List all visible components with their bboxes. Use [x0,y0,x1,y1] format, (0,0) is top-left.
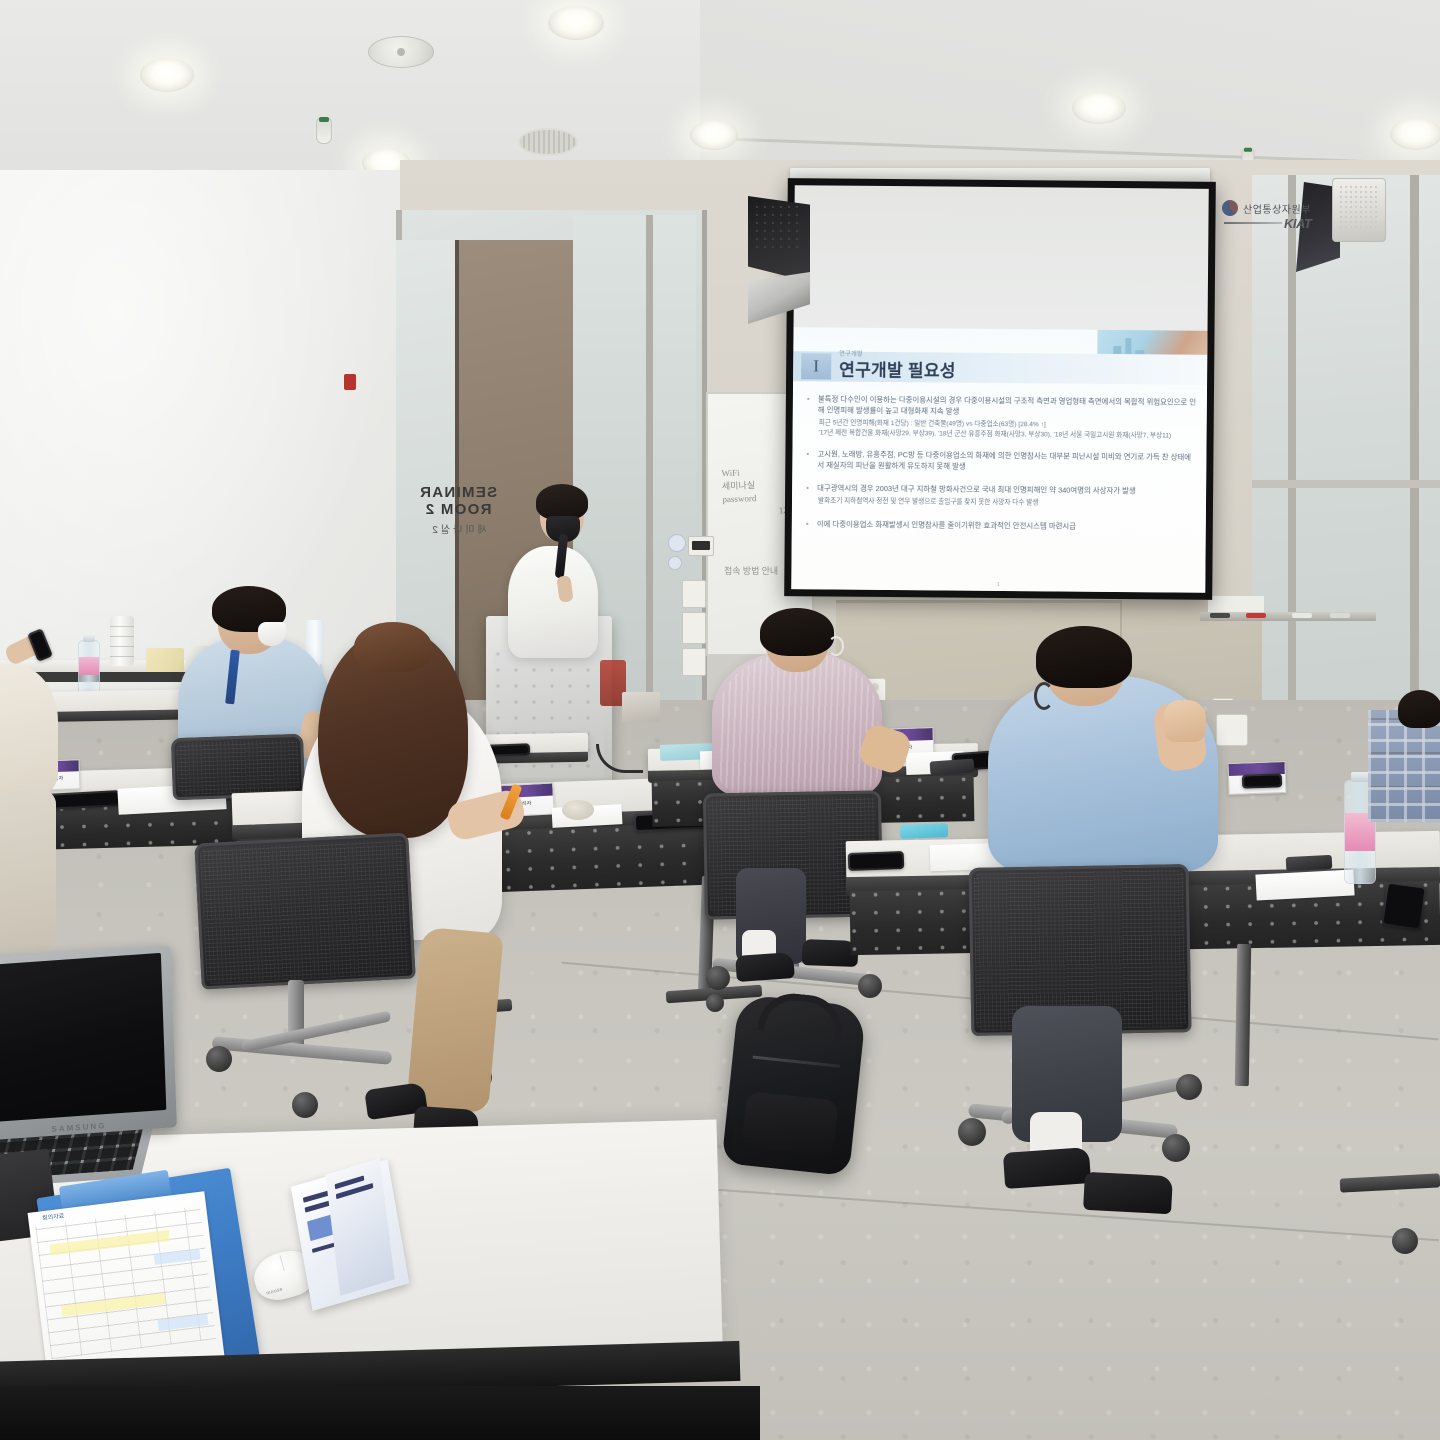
shoe [1083,1172,1173,1215]
whiteboard-handwriting-bottom: 접속 방법 안내 [724,564,778,577]
light-switch-panel[interactable] [682,648,706,676]
smartphone-on-desk[interactable] [1242,773,1282,788]
bullet-icon: ▪ [806,448,812,470]
slide-bullet-text: 이에 다중이용업소 화재발생시 인명참사를 줄이기위한 효과적인 안전시스템 마… [817,518,1076,531]
ceiling-vent [518,128,578,156]
slide-bullet: ▪ 이에 다중이용업소 화재발생시 인명참사를 줄이기위한 효과적인 안전시스템… [806,518,1196,532]
presenter-hair [536,484,588,520]
chair-caster [958,1118,986,1146]
marker-red-icon[interactable] [1246,613,1266,618]
clipboard[interactable]: 회의자료 [36,1168,259,1386]
cardboard-box [622,692,660,722]
smartphone-on-desk[interactable] [1381,881,1427,930]
laptop-brand-label: SAMSUNG [51,1121,106,1134]
ceiling-downlight [140,58,194,92]
backpack-on-floor[interactable] [721,994,866,1176]
clipboard-doc-title: 회의자료 [42,1211,65,1223]
bullet-icon: ▪ [806,518,812,529]
backpack-front-pocket [741,1091,838,1156]
slide-subbullet-text: '17년 제천 복합건물 화재(사망29, 부상39), '18년 군산 유흥주… [819,429,1172,439]
water-bottle[interactable] [78,640,100,698]
slide-page-number: 1 [997,582,1000,588]
sprinkler-head [316,118,332,144]
wall-switch-panel-group[interactable] [682,580,706,680]
snack-package[interactable] [146,648,184,672]
bullet-icon: ▪ [806,482,812,493]
bullet-icon: ▪ [807,393,813,415]
tablet-on-desk[interactable] [1286,855,1333,871]
glass-rail [1252,480,1440,488]
clipboard-document[interactable]: 회의자료 [28,1191,226,1383]
speaker-grille-icon [754,204,800,248]
signage-rule [1224,222,1282,224]
wall-sticker [668,556,682,570]
mouse-brand-label: mouse [266,1286,284,1296]
ceiling-downlight [548,6,604,40]
chair-caster [706,966,730,990]
attendee2-legs [406,927,503,1113]
desk-caster [1392,1228,1418,1254]
chair-caster [292,1092,318,1118]
thermostat[interactable] [688,536,714,556]
slide-bullet: ▪ 대구광역시의 경우 2003년 대구 지하철 방화사건으로 국내 최대 인명… [806,482,1196,496]
chair-back-attendee2 [194,833,415,990]
chair-back-attendee1 [171,734,305,801]
desk-caster [706,994,724,1012]
ceiling-downlight [1390,118,1440,150]
eraser-icon[interactable] [1330,613,1350,618]
shoe [1003,1147,1091,1189]
ceiling-downlight [1072,92,1126,124]
door-sign-ko: 세미나실2 [398,521,518,536]
attendee2-hair-top [354,622,432,672]
smartphone-on-desk[interactable] [848,851,905,871]
attendee4-clasped-hands [1164,700,1206,742]
slide-section-number: I [801,353,831,379]
slide-subbullet-text: 발화초기 지하철역사 정전 및 연무 발생으로 출입구를 찾지 못한 사망자 다… [818,497,1038,506]
glass-mullion [1288,175,1296,735]
document-sheet[interactable] [1255,869,1354,900]
agency-name: KIAT [1284,216,1311,231]
wall-signage: 산업통상자원부 KIAT [1222,196,1330,244]
chair-caster [1162,1134,1190,1162]
marker-black-icon[interactable] [1210,613,1230,618]
presentation-slide: I 연구개발 연구개발 필요성 ▪ 불특정 다수인이 이용하는 다중이용시설의 … [791,327,1207,593]
slide-title: 연구개발 필요성 [839,356,956,382]
speaker-grille-icon [1339,185,1379,229]
screen-surface: I 연구개발 연구개발 필요성 ▪ 불특정 다수인이 이용하는 다중이용시설의 … [791,185,1209,593]
presenter-body [508,546,598,658]
door-sign-en: SEMINAR ROOM 2 [398,484,518,518]
wall-sticker [668,534,686,552]
fire-alarm-pull[interactable] [344,374,356,390]
wall-outlet[interactable] [1216,714,1248,746]
light-switch-panel[interactable] [682,612,706,644]
wall-speaker-right [1332,178,1386,242]
attendee5-hair [1398,690,1440,728]
attendee-left-lap [0,790,56,950]
ceiling-downlight [690,120,738,150]
seminar-room-photo: SEMINAR ROOM 2 세미나실2 WiFi 세미나실 password … [0,0,1440,1440]
slide-bullet-text: 고시원, 노래방, 유흥주점, PC방 등 다중이용업소의 화재에 의한 인명참… [817,448,1196,473]
ministry-logo-icon [1222,200,1238,216]
door-room-sign: SEMINAR ROOM 2 세미나실2 [398,484,518,536]
foreground-table-shadow [0,1386,760,1440]
slide-subbullet: 발화초기 지하철역사 정전 및 연무 발생으로 출입구를 찾지 못한 사망자 다… [806,496,1196,509]
chair-caster [1176,1074,1202,1100]
attendee3-hair [760,608,834,656]
pen-case[interactable] [900,823,948,839]
marker-tray [1200,612,1376,621]
glass-mullion [1410,175,1419,735]
attendee3-mask-earloop [828,636,844,656]
glass-mullion [646,215,653,715]
eyeglasses-case[interactable] [562,800,594,820]
slide-bullet: ▪ 불특정 다수인이 이용하는 다중이용시설의 경우 다중이용시설의 구조적 측… [807,393,1197,418]
chair-caster [858,974,882,998]
shoe [735,952,795,982]
attendee3-shirt-stripes [718,654,878,794]
eraser-icon[interactable] [1292,613,1312,618]
slide-bullet-text: 대구광역시의 경우 2003년 대구 지하철 방화사건으로 국내 최대 인명피해… [817,482,1136,496]
foreground-laptop[interactable]: SAMSUNG [0,945,177,1141]
slide-bullet-text: 불특정 다수인이 이용하는 다중이용시설의 경우 다중이용시설의 구조적 측면과… [818,393,1197,418]
slide-subbullet-text: 최근 5년간 인명피해(화재 1건당) : 일반 건축물(49명) vs 다중업… [819,419,1046,428]
backpack-zipper [753,1056,841,1068]
desk-leg [1235,944,1251,1086]
attendee4-hair [1036,626,1132,688]
attendee4-mask-earloop [1034,682,1054,710]
ceiling-speaker [368,36,434,68]
slide-bullet: ▪ 고시원, 노래방, 유흥주점, PC방 등 다중이용업소의 화재에 의한 인… [806,448,1196,473]
slide-subbullet: '17년 제천 복합건물 화재(사망29, 부상39), '18년 군산 유흥주… [807,428,1197,441]
projection-screen: I 연구개발 연구개발 필요성 ▪ 불특정 다수인이 이용하는 다중이용시설의 … [784,178,1216,600]
clipboard-doc-table [35,1206,216,1359]
light-switch-panel[interactable] [682,580,706,608]
paper-cup-stack[interactable] [110,616,134,666]
mouse-button-split [279,1255,284,1271]
foreground-laptop-screen [0,953,166,1122]
chair-caster [206,1046,232,1072]
ministry-name: 산업통상자원부 [1243,201,1311,216]
slide-body: ▪ 불특정 다수인이 이용하는 다중이용시설의 경우 다중이용시설의 구조적 측… [806,393,1197,535]
